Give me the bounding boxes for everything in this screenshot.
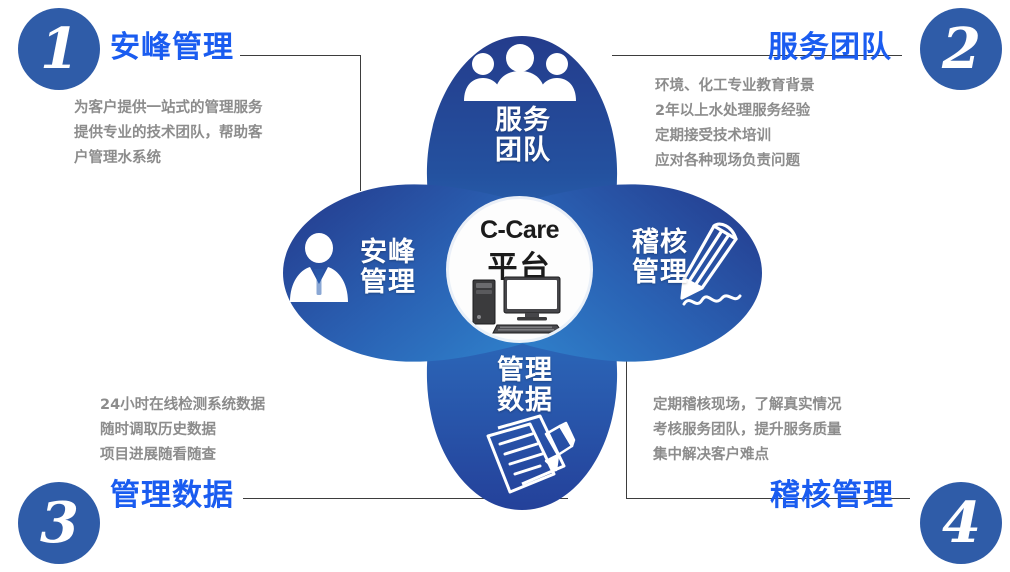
section-body-1: 为客户提供一站式的管理服务提供专业的技术团队，帮助客户管理水系统 [74, 96, 263, 171]
section-title-1: 安峰管理 [110, 22, 234, 66]
section-body-line: 户管理水系统 [74, 146, 263, 171]
section-title-4: 稽核管理 [770, 470, 894, 514]
three-people-icon [462, 44, 578, 108]
section-body-3: 24小时在线检测系统数据随时调取历史数据项目进展随看随查 [100, 393, 265, 468]
section-body-line: 24小时在线检测系统数据 [100, 393, 265, 418]
section-body-line: 考核服务团队，提升服务质量 [653, 418, 842, 443]
section-body-line: 提供专业的技术团队，帮助客 [74, 121, 263, 146]
petal-label-right: 稽核 管理 [612, 228, 708, 288]
section-body-line: 为客户提供一站式的管理服务 [74, 96, 263, 121]
section-body-line: 定期稽核现场，了解真实情况 [653, 393, 842, 418]
center-hub[interactable]: C-Care 平台 [449, 199, 590, 340]
petal-label-left: 安峰 管理 [340, 238, 436, 298]
petal-label-bottom: 管理 数据 [477, 356, 573, 416]
desktop-computer-icon [471, 275, 571, 335]
brand-name-en: C-Care [449, 216, 590, 245]
section-title-3: 管理数据 [110, 470, 234, 514]
number-badge-4: 4 [920, 482, 1002, 564]
clipboard-pencil-icon [484, 414, 576, 506]
petal-label-top: 服务 团队 [475, 106, 571, 166]
section-body-2: 环境、化工专业教育背景2年以上水处理服务经验定期接受技术培训应对各种现场负责问题 [655, 74, 815, 174]
section-body-line: 2年以上水处理服务经验 [655, 99, 815, 124]
infographic-canvas: 服务 团队 安峰 管理 稽核 管理 管理 数据 C-Care 平台 [0, 0, 1010, 572]
number-badge-1: 1 [18, 8, 100, 90]
section-title-2: 服务团队 [768, 22, 892, 66]
section-body-line: 定期接受技术培训 [655, 124, 815, 149]
section-body-line: 应对各种现场负责问题 [655, 149, 815, 174]
number-badge-2: 2 [920, 8, 1002, 90]
section-body-line: 集中解决客户难点 [653, 443, 842, 468]
section-body-line: 环境、化工专业教育背景 [655, 74, 815, 99]
section-body-line: 随时调取历史数据 [100, 418, 265, 443]
number-badge-3: 3 [18, 482, 100, 564]
section-body-4: 定期稽核现场，了解真实情况考核服务团队，提升服务质量集中解决客户难点 [653, 393, 842, 468]
section-body-line: 项目进展随看随查 [100, 443, 265, 468]
